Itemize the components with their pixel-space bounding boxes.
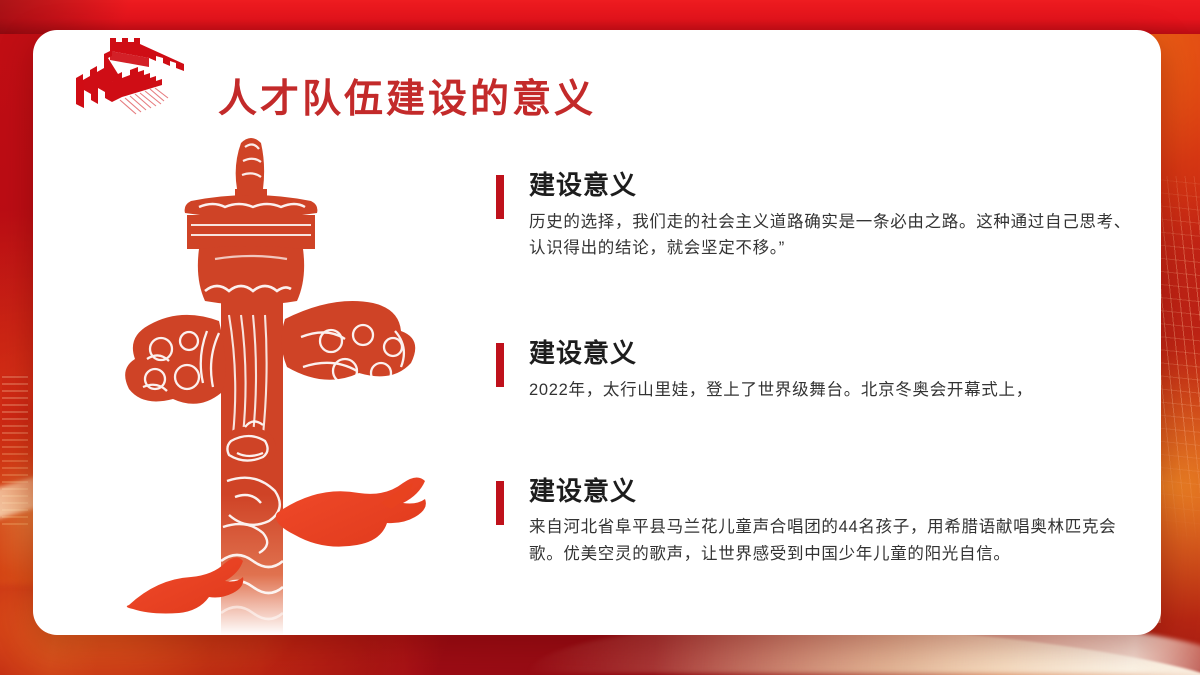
dove-icon	[276, 477, 426, 546]
content-blocks: 建设意义 历史的选择，我们走的社会主义道路确实是一条必由之路。这种通过自己思考、…	[496, 170, 1136, 568]
content-block: 建设意义 2022年，太行山里娃，登上了世界级舞台。北京冬奥会开幕式上，	[496, 338, 1136, 403]
block-heading: 建设意义	[529, 170, 1136, 202]
block-spacer	[496, 262, 1136, 338]
block-heading: 建设意义	[529, 338, 1136, 370]
slide-root: 人才队伍建设的意义	[0, 0, 1200, 675]
content-card: 人才队伍建设的意义	[33, 30, 1161, 635]
accent-bar	[496, 175, 504, 219]
block-spacer	[496, 404, 1136, 476]
great-wall-icon	[64, 38, 188, 124]
slide-header: 人才队伍建设的意义	[33, 30, 1161, 134]
top-ribbon-band	[0, 0, 1200, 34]
block-body: 2022年，太行山里娃，登上了世界级舞台。北京冬奥会开幕式上，	[529, 377, 1141, 404]
block-heading: 建设意义	[529, 476, 1136, 508]
accent-bar	[496, 481, 504, 525]
accent-bar	[496, 343, 504, 387]
block-body: 来自河北省阜平县马兰花儿童声合唱团的44名孩子，用希腊语献唱奥林匹克会歌。优美空…	[529, 514, 1141, 567]
huabiao-column-illustration	[95, 135, 495, 635]
block-body: 历史的选择，我们走的社会主义道路确实是一条必由之路。这种通过自己思考、认识得出的…	[529, 209, 1141, 262]
content-block: 建设意义 历史的选择，我们走的社会主义道路确实是一条必由之路。这种通过自己思考、…	[496, 170, 1136, 262]
content-block: 建设意义 来自河北省阜平县马兰花儿童声合唱团的44名孩子，用希腊语献唱奥林匹克会…	[496, 476, 1136, 568]
page-title: 人才队伍建设的意义	[218, 68, 596, 124]
